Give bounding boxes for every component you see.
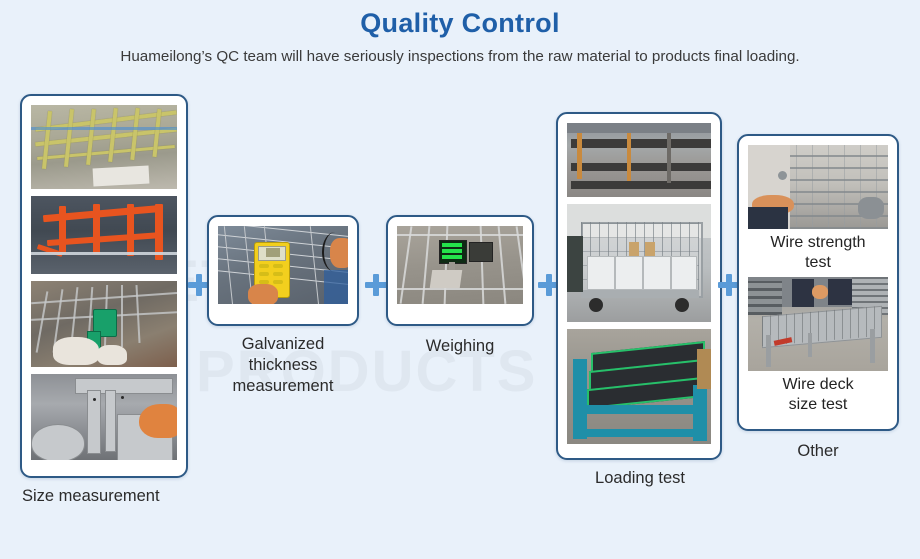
step-card-galvanized-thickness[interactable]: [207, 215, 359, 326]
step-label-size-measurement: Size measurement: [22, 486, 222, 507]
photo-size-measurement-2: [31, 196, 177, 274]
step-label-other: Other: [737, 441, 899, 462]
step-label-weighing: Weighing: [386, 336, 534, 357]
step-label-galvanized-thickness: Galvanized thickness measurement: [197, 334, 369, 397]
step-card-weighing[interactable]: [386, 215, 534, 326]
photo-wire-deck-size-test: [748, 277, 888, 371]
photo-size-measurement-1: [31, 105, 177, 189]
page-title: Quality Control: [0, 0, 920, 39]
photo-loading-test-3: [567, 329, 711, 444]
step-label-loading-test: Loading test: [550, 468, 730, 489]
sub-step-label-wire-strength-test: Wire strength test: [748, 229, 888, 277]
plus-connector-2-icon: [365, 274, 387, 296]
photo-size-measurement-4: [31, 374, 177, 460]
photo-galvanized-thickness-1: [218, 226, 348, 304]
step-card-size-measurement[interactable]: [20, 94, 188, 478]
photo-wire-strength-test: [748, 145, 888, 229]
sub-step-label-wire-deck-size-test: Wire deck size test: [748, 371, 888, 419]
page-subtitle: Huameilong’s QC team will have seriously…: [0, 39, 920, 65]
step-card-other[interactable]: Wire strength test Wire deck s: [737, 134, 899, 431]
photo-size-measurement-3: [31, 281, 177, 367]
photo-weighing-1: [397, 226, 523, 304]
photo-loading-test-1: [567, 123, 711, 197]
qc-flow: Size measurement: [0, 86, 920, 559]
header: Quality Control Huameilong’s QC team wil…: [0, 0, 920, 65]
step-card-loading-test[interactable]: [556, 112, 722, 460]
photo-loading-test-2: [567, 204, 711, 322]
